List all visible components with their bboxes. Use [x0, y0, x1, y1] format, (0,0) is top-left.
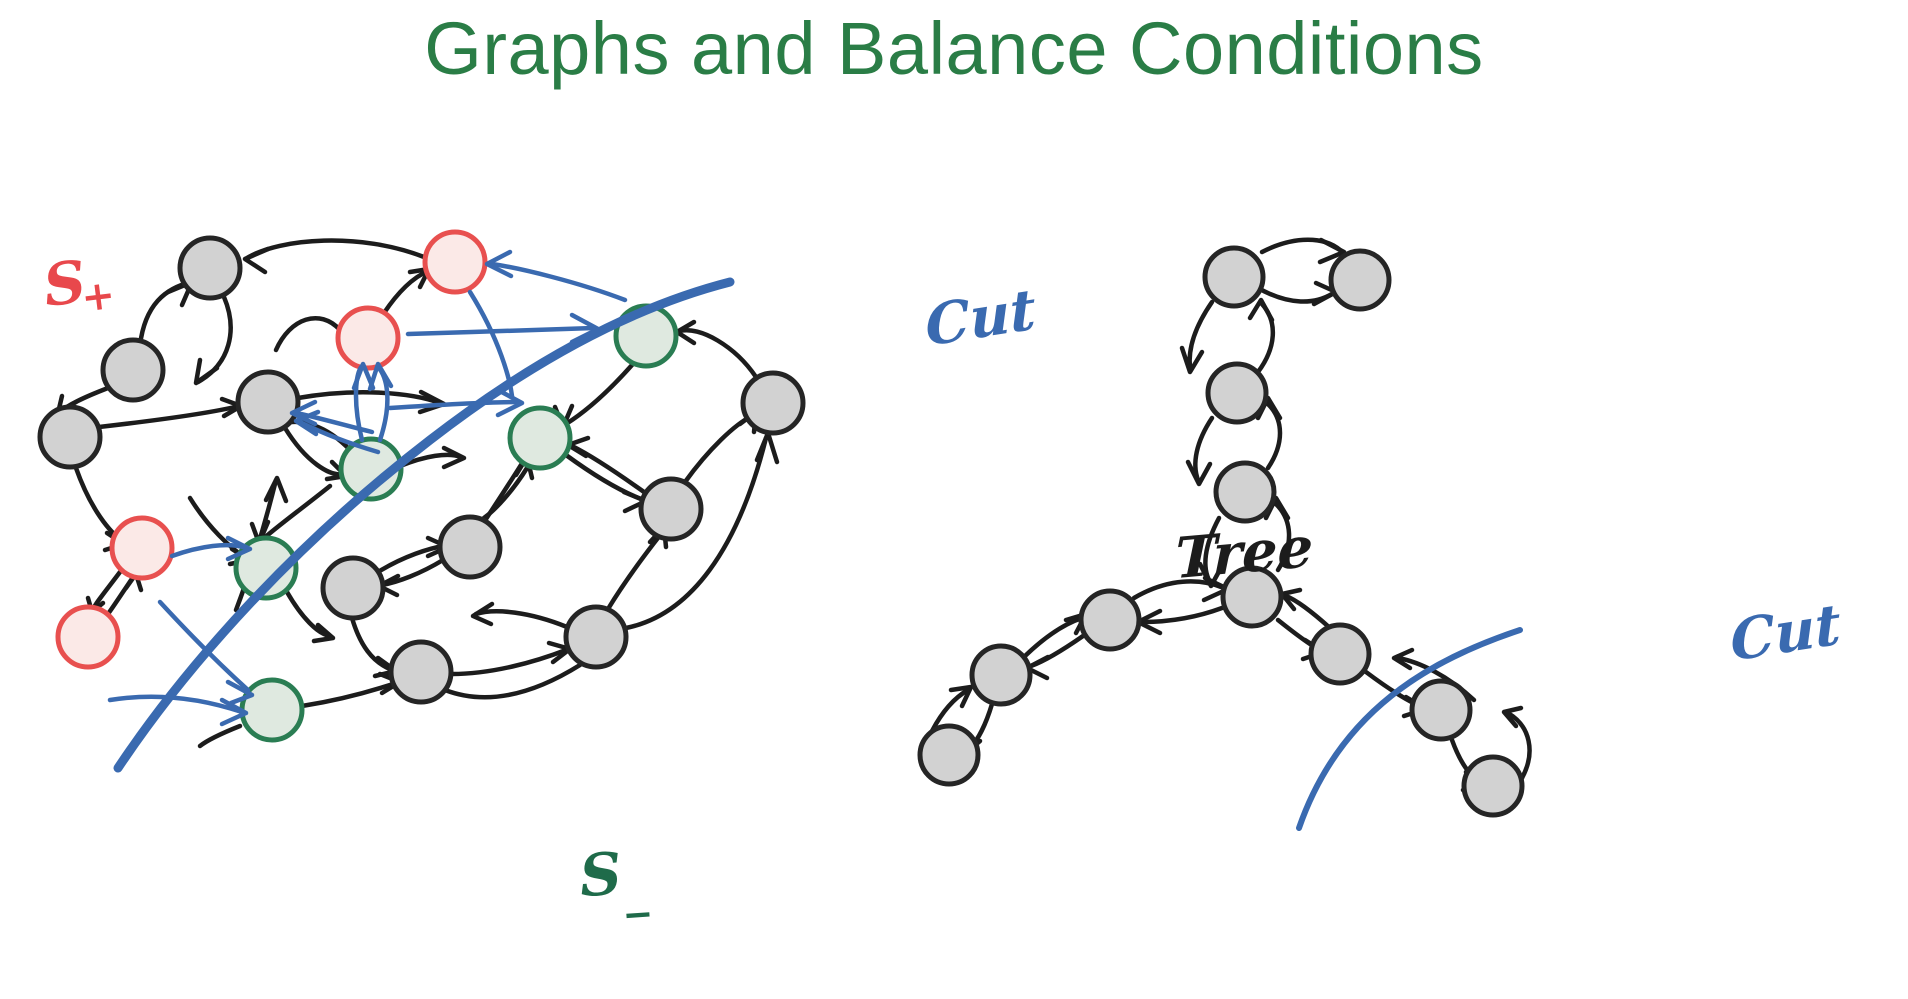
graph-node-gray[interactable] — [641, 479, 701, 539]
graph-node-green[interactable] — [510, 408, 570, 468]
tree-node[interactable] — [1208, 364, 1266, 422]
graph-node-gray[interactable] — [180, 238, 240, 298]
graph-node-gray[interactable] — [391, 642, 451, 702]
tree-node[interactable] — [920, 726, 978, 784]
graph-node-gray[interactable] — [743, 373, 803, 433]
graph-node-red[interactable] — [58, 607, 118, 667]
tree-node[interactable] — [1464, 757, 1522, 815]
slide-canvas: Graphs and Balance Conditions — [0, 0, 1908, 999]
graph-node-red[interactable] — [338, 308, 398, 368]
tree-node[interactable] — [972, 646, 1030, 704]
graph-node-green[interactable] — [242, 680, 302, 740]
graph-node-gray[interactable] — [40, 407, 100, 467]
tree-node[interactable] — [1216, 463, 1274, 521]
graph-node-gray[interactable] — [440, 517, 500, 577]
tree-node[interactable] — [1412, 681, 1470, 739]
graph-node-red[interactable] — [112, 518, 172, 578]
tree-node[interactable] — [1081, 591, 1139, 649]
tree-node[interactable] — [1331, 251, 1389, 309]
tree-node[interactable] — [1205, 248, 1263, 306]
tree-node[interactable] — [1311, 625, 1369, 683]
whiteboard-drawing — [0, 0, 1908, 999]
tree-node[interactable] — [1223, 568, 1281, 626]
graph-node-gray[interactable] — [566, 607, 626, 667]
tree-nodes — [920, 248, 1522, 815]
graph-node-gray[interactable] — [238, 372, 298, 432]
graph-node-red[interactable] — [425, 232, 485, 292]
graph-node-gray[interactable] — [103, 340, 163, 400]
graph-node-gray[interactable] — [323, 558, 383, 618]
